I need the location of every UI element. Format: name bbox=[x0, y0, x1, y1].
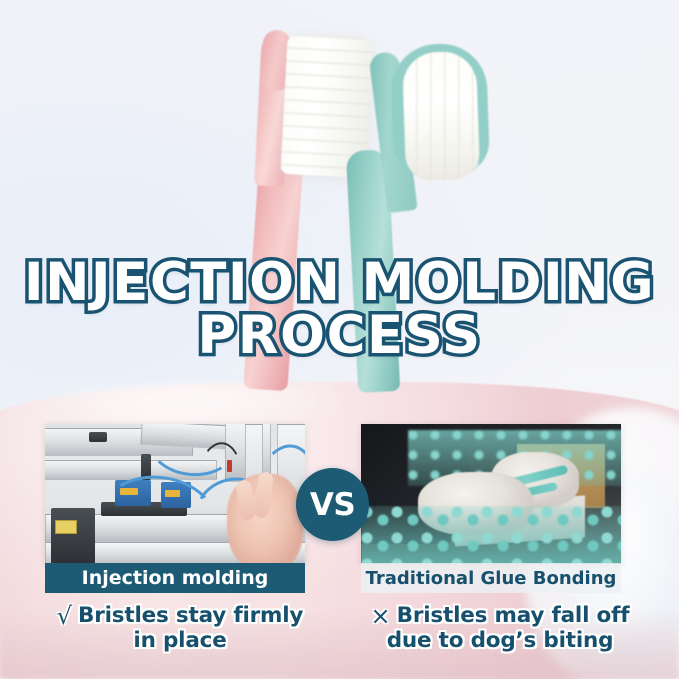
right-drawback-line-2: due to dog’s biting bbox=[350, 629, 650, 652]
left-benefit-block: √ Bristles stay firmly in place bbox=[30, 604, 330, 652]
vs-label: VS bbox=[310, 487, 355, 523]
machine-dark-bar bbox=[89, 432, 107, 442]
glue-photo-bg bbox=[361, 424, 621, 564]
left-caption-label: Injection molding bbox=[82, 567, 269, 589]
infographic-canvas: INJECTION MOLDING PROCESS bbox=[0, 0, 679, 679]
right-caption-label: Traditional Glue Bonding bbox=[366, 568, 617, 589]
right-caption-bar: Traditional Glue Bonding bbox=[361, 563, 621, 593]
right-drawback-line-1: Bristles may fall off bbox=[397, 604, 630, 627]
left-benefit-line-2: in place bbox=[30, 629, 330, 652]
teal-toothbrush-bristles bbox=[402, 51, 480, 182]
machine-dark-box bbox=[51, 508, 95, 564]
machine-photo-bg bbox=[45, 424, 305, 564]
machine-warning-label bbox=[55, 520, 77, 534]
left-caption-bar: Injection molding bbox=[45, 563, 305, 593]
glue-bonding-photo bbox=[361, 424, 621, 564]
right-drawback-block: × Bristles may fall off due to dog’s bit… bbox=[350, 604, 650, 652]
cross-mark-icon: × bbox=[371, 604, 391, 629]
injection-molding-photo bbox=[45, 424, 305, 564]
left-benefit-line-1: Bristles stay firmly bbox=[78, 604, 303, 627]
vs-badge: VS bbox=[296, 468, 369, 541]
check-mark-icon: √ bbox=[57, 604, 72, 629]
toothbrush-rows-front bbox=[361, 506, 621, 564]
